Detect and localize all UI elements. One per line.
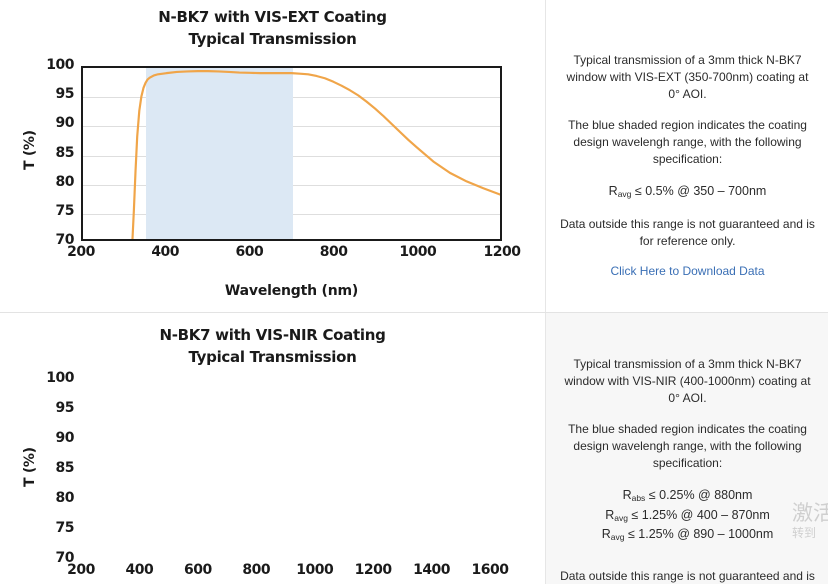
download-data-link-vis-ext[interactable]: Click Here to Download Data — [560, 264, 815, 278]
y-tick-label: 75 — [34, 520, 74, 536]
y-tick-label: 100 — [34, 370, 74, 386]
chart-title-line2: Typical Transmission — [0, 346, 545, 368]
vis-ext-description-body: Typical transmission of a 3mm thick N-BK… — [546, 52, 828, 278]
x-axis-title-chart1: Wavelength (nm) — [81, 283, 502, 299]
y-tick-label: 75 — [34, 203, 74, 219]
x-tick-label: 600 — [168, 562, 228, 578]
y-tick-label: 85 — [34, 145, 74, 161]
x-tick-label: 400 — [109, 562, 169, 578]
plot-area-vis-ext — [81, 66, 502, 241]
specification-line: Ravg ≤ 1.25% @ 890 – 1000nm — [560, 525, 815, 544]
x-tick-label: 400 — [135, 244, 195, 260]
specification-list-vis-nir: Rabs ≤ 0.25% @ 880nmRavg ≤ 1.25% @ 400 –… — [560, 486, 815, 544]
y-tick-label: 80 — [34, 490, 74, 506]
y-tick-label: 95 — [34, 400, 74, 416]
vis-ext-description-column: Typical transmission of a 3mm thick N-BK… — [545, 0, 828, 312]
chart-title-line2: Typical Transmission — [0, 28, 545, 50]
transmission-curve-vis-ext — [83, 68, 500, 239]
chart-title-line1: N-BK7 with VIS-EXT Coating — [0, 6, 545, 28]
description-paragraph-1: Typical transmission of a 3mm thick N-BK… — [560, 356, 815, 407]
x-tick-label: 1600 — [460, 562, 520, 578]
x-tick-label: 800 — [304, 244, 364, 260]
specification-line: Rabs ≤ 0.25% @ 880nm — [560, 486, 815, 505]
description-paragraph-3: Data outside this range is not guarantee… — [560, 568, 815, 584]
vis-nir-description-body: Typical transmission of a 3mm thick N-BK… — [546, 356, 828, 584]
x-tick-label: 1200 — [343, 562, 403, 578]
specification-line: Ravg ≤ 1.25% @ 400 – 870nm — [560, 506, 815, 525]
y-tick-label: 80 — [34, 174, 74, 190]
x-tick-label: 1200 — [472, 244, 532, 260]
y-tick-label: 100 — [34, 57, 74, 73]
vis-nir-description-column: Typical transmission of a 3mm thick N-BK… — [545, 312, 828, 584]
x-tick-label: 200 — [51, 562, 111, 578]
x-tick-label: 800 — [226, 562, 286, 578]
vis-ext-panel: N-BK7 with VIS-EXT Coating Typical Trans… — [0, 0, 828, 312]
description-paragraph-1: Typical transmission of a 3mm thick N-BK… — [560, 52, 815, 103]
x-tick-label: 1000 — [388, 244, 448, 260]
vis-nir-panel: N-BK7 with VIS-NIR Coating Typical Trans… — [0, 312, 828, 584]
chart-title-vis-ext: N-BK7 with VIS-EXT Coating Typical Trans… — [0, 6, 545, 50]
x-tick-label: 1400 — [402, 562, 462, 578]
y-tick-label: 90 — [34, 430, 74, 446]
y-tick-label: 85 — [34, 460, 74, 476]
specification-list-vis-ext: Ravg ≤ 0.5% @ 350 – 700nm — [560, 182, 815, 201]
x-tick-label: 1000 — [285, 562, 345, 578]
transmission-spec-page: N-BK7 with VIS-EXT Coating Typical Trans… — [0, 0, 828, 584]
description-paragraph-2: The blue shaded region indicates the coa… — [560, 117, 815, 168]
y-tick-label: 95 — [34, 86, 74, 102]
chart-title-vis-nir: N-BK7 with VIS-NIR Coating Typical Trans… — [0, 324, 545, 368]
y-tick-label: 90 — [34, 115, 74, 131]
vis-nir-chart-column: N-BK7 with VIS-NIR Coating Typical Trans… — [0, 312, 545, 584]
description-paragraph-2: The blue shaded region indicates the coa… — [560, 421, 815, 472]
x-tick-label: 600 — [219, 244, 279, 260]
description-paragraph-3: Data outside this range is not guarantee… — [560, 216, 815, 250]
vis-ext-chart-column: N-BK7 with VIS-EXT Coating Typical Trans… — [0, 0, 545, 312]
spacer — [560, 558, 815, 568]
curve-path — [132, 71, 500, 239]
specification-line: Ravg ≤ 0.5% @ 350 – 700nm — [560, 182, 815, 201]
chart-title-line1: N-BK7 with VIS-NIR Coating — [0, 324, 545, 346]
x-tick-label: 200 — [51, 244, 111, 260]
